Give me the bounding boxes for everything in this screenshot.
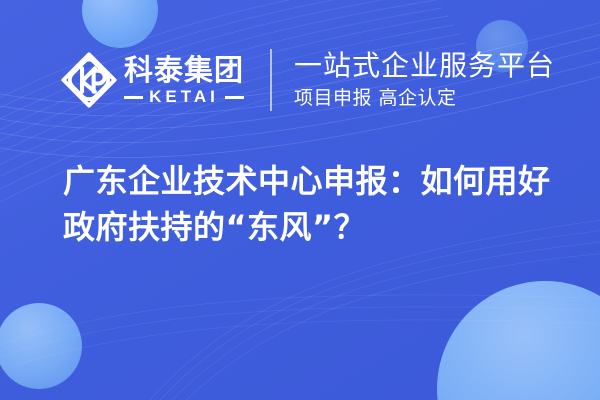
header-vertical-divider (270, 49, 272, 111)
ketai-kp-diamond-logo-icon (60, 51, 118, 109)
decorative-circle-bottom-right (437, 281, 600, 400)
tagline-secondary: 项目申报 高企认定 (294, 85, 555, 111)
article-title-line-2: 政府扶持的“东风”？ (63, 204, 563, 250)
logo-wordmark: 科泰集团 KETAI (124, 54, 244, 106)
logo-company-name-en-row: KETAI (124, 88, 244, 106)
decorative-circle-top-left (82, 0, 158, 48)
logo-rule-right (225, 96, 244, 99)
logo-company-name-cn: 科泰集团 (124, 54, 244, 86)
logo-company-name-en: KETAI (143, 88, 225, 106)
banner-header: 科泰集团 KETAI 一站式企业服务平台 项目申报 高企认定 (60, 42, 555, 118)
decorative-circle-bottom-left (0, 303, 82, 389)
promo-banner: 科泰集团 KETAI 一站式企业服务平台 项目申报 高企认定 广东企业技术中心申… (0, 0, 600, 400)
tagline-block: 一站式企业服务平台 项目申报 高企认定 (294, 49, 555, 111)
article-title-line-1: 广东企业技术中心申报：如何用好 (63, 158, 563, 204)
article-title: 广东企业技术中心申报：如何用好 政府扶持的“东风”？ (63, 158, 563, 250)
tagline-primary: 一站式企业服务平台 (294, 49, 555, 83)
logo-rule-left (124, 96, 143, 99)
company-logo: 科泰集团 KETAI (60, 51, 244, 109)
